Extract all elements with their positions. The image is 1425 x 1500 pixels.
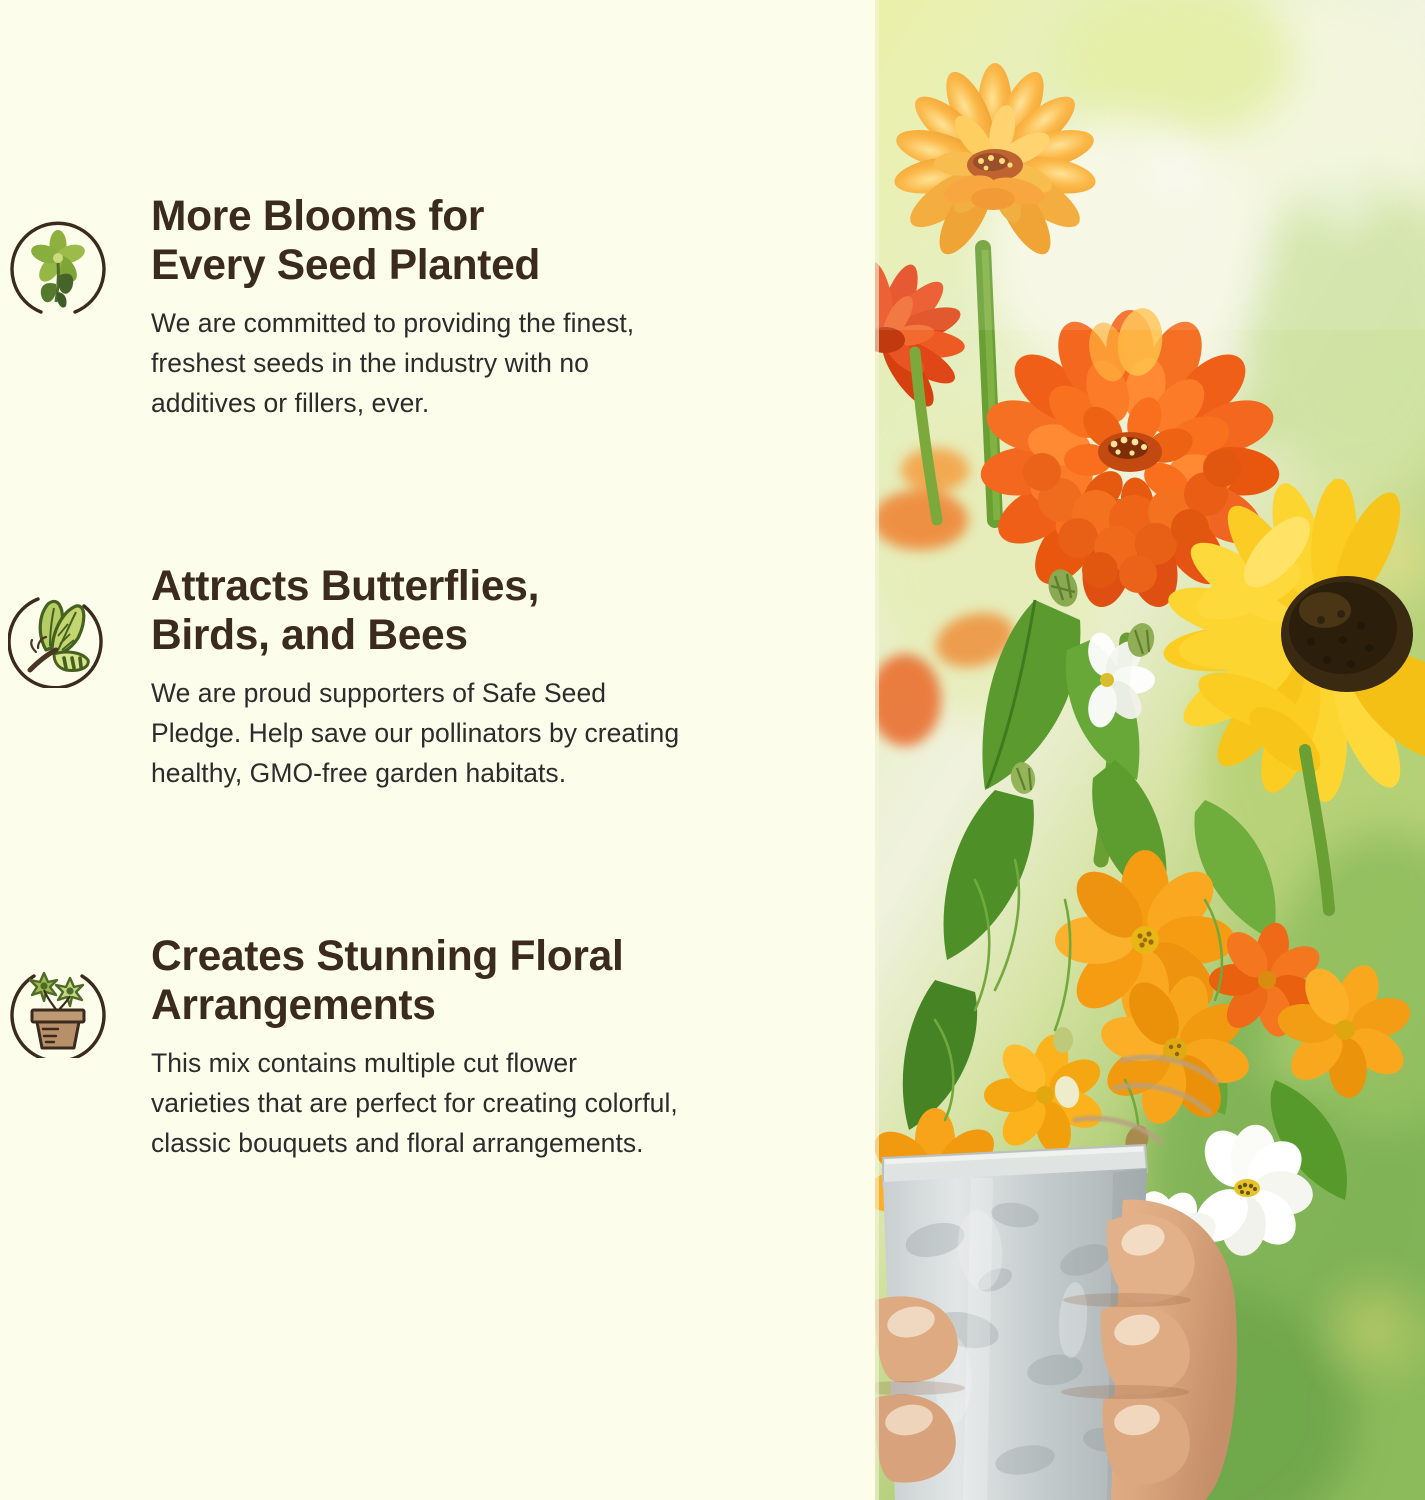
feature-item-floral-arrangements: Creates Stunning Floral Arrangements Thi… [0, 933, 871, 1164]
butterfly-icon-wrap [0, 563, 151, 693]
butterfly-icon [8, 588, 108, 688]
bouquet-illustration [875, 0, 1425, 1500]
flower-sprout-icon [8, 218, 108, 318]
feature-body: We are committed to providing the finest… [151, 303, 871, 424]
feature-title: Attracts Butterflies, Birds, and Bees [151, 563, 871, 661]
feature-title: More Blooms for Every Seed Planted [151, 193, 871, 291]
benefits-panel: More Blooms for Every Seed Planted We ar… [0, 0, 875, 1500]
feature-item-attracts-pollinators: Attracts Butterflies, Birds, and Bees We… [0, 563, 871, 794]
product-benefits-page: More Blooms for Every Seed Planted We ar… [0, 0, 1425, 1500]
feature-body: We are proud supporters of Safe Seed Ple… [151, 673, 871, 794]
flower-bouquet-photo: Hand holding a galvanized metal bucket f… [875, 0, 1425, 1500]
feature-text-block: Attracts Butterflies, Birds, and Bees We… [151, 563, 871, 794]
feature-text-block: Creates Stunning Floral Arrangements Thi… [151, 933, 871, 1164]
feature-body: This mix contains multiple cut flower va… [151, 1043, 871, 1164]
feature-text-block: More Blooms for Every Seed Planted We ar… [151, 193, 871, 424]
feature-item-more-blooms: More Blooms for Every Seed Planted We ar… [0, 193, 871, 424]
potted-plant-icon [8, 958, 108, 1058]
feature-title: Creates Stunning Floral Arrangements [151, 933, 871, 1031]
potted-plant-icon-wrap [0, 933, 151, 1063]
flower-sprout-icon-wrap [0, 193, 151, 323]
